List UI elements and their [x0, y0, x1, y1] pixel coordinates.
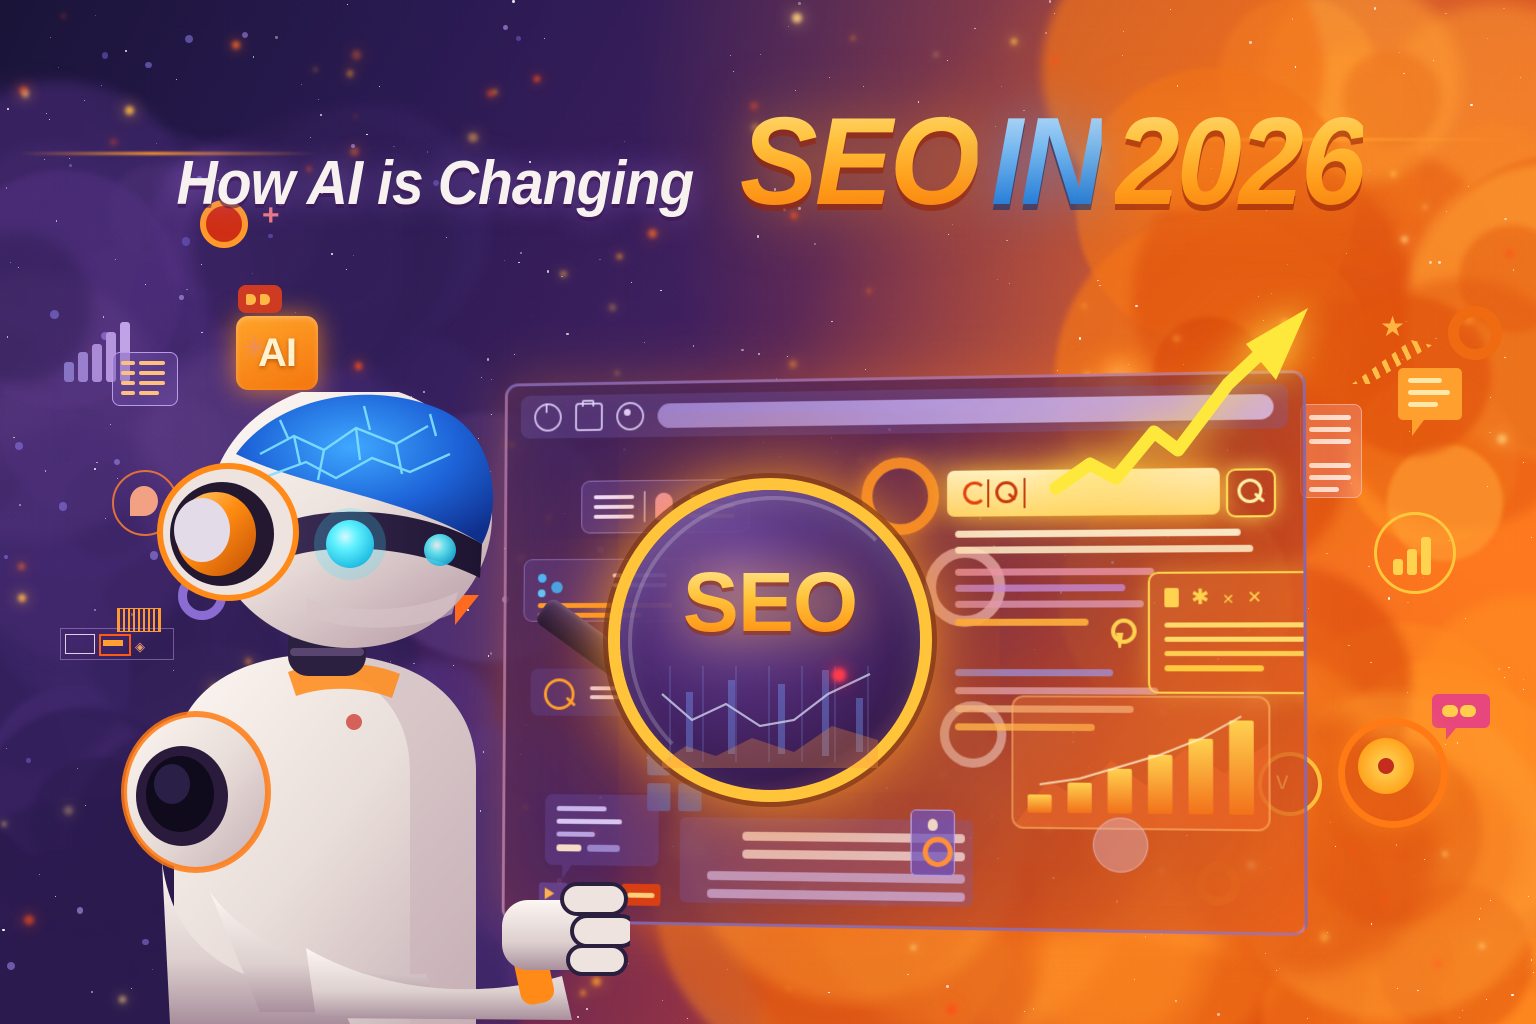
circle-blob: [1093, 817, 1149, 873]
asterisk-icon: ✳: [242, 336, 267, 362]
bar: [1068, 783, 1092, 814]
person-icon: [923, 837, 953, 868]
plus-icon: +: [262, 204, 288, 230]
title-streak-left: [18, 152, 318, 155]
asterisk-icon: ✱: [1191, 589, 1209, 606]
bar-chart-badge-icon: [1374, 512, 1456, 594]
bar-chart: [1013, 697, 1268, 829]
magnifier-glass[interactable]: SEO: [620, 490, 920, 790]
bar: [1148, 755, 1173, 814]
speech-bubble-icon: [1398, 368, 1462, 420]
analytics-card-panel[interactable]: [1011, 695, 1270, 831]
page-subtitle: SEOIN2026: [740, 100, 1363, 224]
profile-chip[interactable]: [911, 809, 955, 876]
lens-line-chart: [656, 660, 884, 768]
gear-icon: [1448, 306, 1502, 360]
magnifier-label: SEO: [620, 560, 920, 644]
cog-wheel-icon: [1338, 718, 1448, 828]
x-mark-icon: ✕: [1247, 588, 1262, 608]
title-streak-right: [1176, 138, 1516, 141]
magnifier-lens: SEO: [620, 490, 920, 790]
x-mark-icon: ✕: [1222, 591, 1234, 608]
card-block-icon: [1164, 588, 1178, 607]
bar: [1108, 769, 1132, 814]
subtitle-word-in: IN: [990, 93, 1101, 231]
subtitle-word-year: 2026: [1115, 93, 1363, 231]
bar: [1028, 794, 1052, 812]
alert-dot: [832, 668, 846, 682]
secure-card-panel[interactable]: ✱ ✕ ✕: [1148, 571, 1308, 694]
lock-icon: [1111, 619, 1137, 644]
record-dot-icon: [200, 200, 248, 248]
subtitle-word-seo: SEO: [740, 93, 978, 231]
star-icon: ★: [1380, 310, 1405, 343]
page-title: How AI is Changing: [176, 148, 693, 219]
chat-bubble-icon: [1432, 694, 1490, 728]
robot-character: [110, 392, 630, 1024]
growth-arrow: [1050, 292, 1350, 522]
video-card-icon: [238, 285, 282, 313]
bar: [1229, 720, 1254, 814]
hero-banner: How AI is Changing SEOIN2026: [0, 0, 1536, 1024]
bar: [1188, 739, 1213, 815]
